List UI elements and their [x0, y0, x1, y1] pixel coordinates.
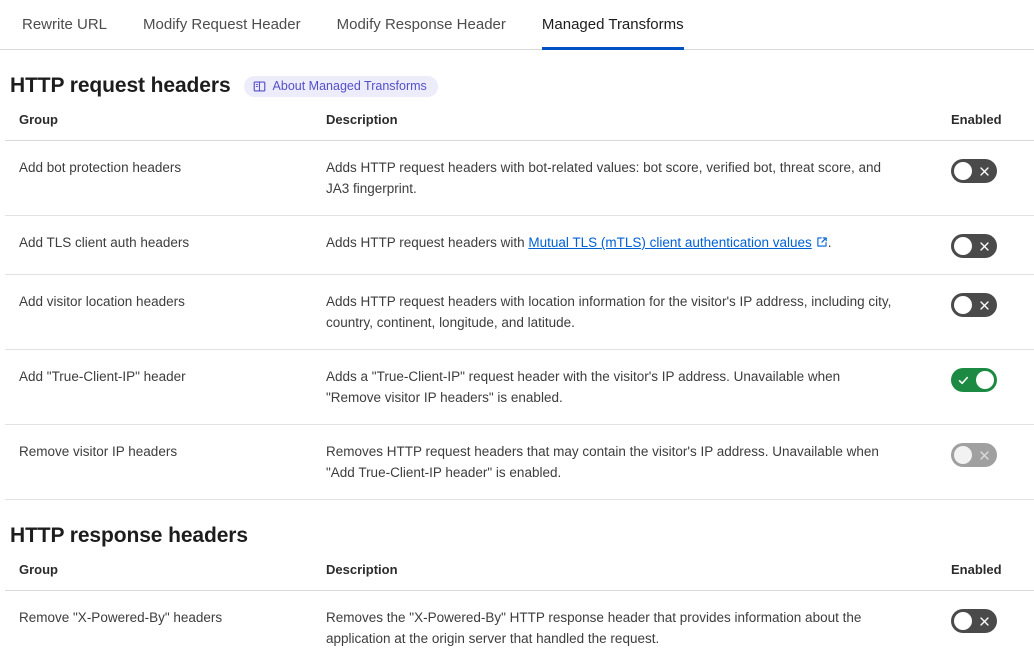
toggle-remove-x-powered-by-headers[interactable]: [951, 609, 997, 633]
toggle-knob: [954, 296, 972, 314]
about-pill-label: About Managed Transforms: [273, 80, 427, 93]
column-header-description: Description: [323, 559, 923, 591]
row-enabled-cell: [923, 141, 1034, 216]
page-title: HTTP request headers: [10, 74, 231, 98]
close-icon: [972, 443, 997, 467]
request-headers-table: Group Description Enabled Add bot protec…: [5, 109, 1034, 500]
http-request-headers-section: HTTP request headers About Managed Trans…: [5, 50, 1029, 500]
column-header-enabled: Enabled: [923, 559, 1034, 591]
close-icon: [972, 293, 997, 317]
tab-rewrite-url[interactable]: Rewrite URL: [22, 0, 107, 50]
row-group-label: Add visitor location headers: [5, 275, 323, 350]
column-header-enabled: Enabled: [923, 109, 1034, 141]
close-icon: [972, 609, 997, 633]
row-description: Removes the "X-Powered-By" HTTP response…: [323, 591, 923, 653]
toggle-knob: [954, 446, 972, 464]
column-header-description: Description: [323, 109, 923, 141]
toggle-add-tls-client-auth-headers[interactable]: [951, 234, 997, 258]
tab-managed-transforms[interactable]: Managed Transforms: [542, 0, 684, 50]
table-header-row: Group Description Enabled: [5, 559, 1034, 591]
table-row: Add bot protection headers Adds HTTP req…: [5, 141, 1034, 216]
column-header-group: Group: [5, 559, 323, 591]
description-prefix: Adds HTTP request headers with: [326, 235, 528, 250]
toggle-add-visitor-location-headers[interactable]: [951, 293, 997, 317]
row-group-label: Add bot protection headers: [5, 141, 323, 216]
table-row: Add "True-Client-IP" header Adds a "True…: [5, 350, 1034, 425]
table-row: Remove visitor IP headers Removes HTTP r…: [5, 425, 1034, 500]
row-group-label: Remove visitor IP headers: [5, 425, 323, 500]
http-response-headers-section: HTTP response headers Group Description …: [5, 500, 1029, 653]
row-enabled-cell: [923, 425, 1034, 500]
row-description: Removes HTTP request headers that may co…: [323, 425, 923, 500]
row-enabled-cell: [923, 591, 1034, 653]
about-managed-transforms-button[interactable]: About Managed Transforms: [244, 76, 438, 97]
page-content: HTTP request headers About Managed Trans…: [0, 50, 1034, 653]
column-header-group: Group: [5, 109, 323, 141]
toggle-knob: [976, 371, 994, 389]
toggle-remove-visitor-ip-headers: [951, 443, 997, 467]
table-row: Add TLS client auth headers Adds HTTP re…: [5, 216, 1034, 275]
toggle-add-true-client-ip-header[interactable]: [951, 368, 997, 392]
description-suffix: .: [828, 235, 832, 250]
close-icon: [972, 234, 997, 258]
row-description: Adds HTTP request headers with location …: [323, 275, 923, 350]
response-section-header: HTTP response headers: [5, 500, 1029, 559]
mtls-documentation-link[interactable]: Mutual TLS (mTLS) client authentication …: [528, 235, 811, 250]
row-description: Adds HTTP request headers with Mutual TL…: [323, 216, 923, 275]
request-section-header: HTTP request headers About Managed Trans…: [5, 50, 1029, 109]
toggle-knob: [954, 162, 972, 180]
close-icon: [972, 159, 997, 183]
toggle-knob: [954, 612, 972, 630]
toggle-knob: [954, 237, 972, 255]
row-enabled-cell: [923, 350, 1034, 425]
table-row: Remove "X-Powered-By" headers Removes th…: [5, 591, 1034, 653]
check-icon: [951, 368, 976, 392]
table-row: Add visitor location headers Adds HTTP r…: [5, 275, 1034, 350]
row-group-label: Add "True-Client-IP" header: [5, 350, 323, 425]
response-headers-table: Group Description Enabled Remove "X-Powe…: [5, 559, 1034, 653]
response-section-title: HTTP response headers: [10, 524, 248, 548]
book-icon: [253, 80, 266, 93]
row-enabled-cell: [923, 216, 1034, 275]
toggle-add-bot-protection-headers[interactable]: [951, 159, 997, 183]
row-enabled-cell: [923, 275, 1034, 350]
table-header-row: Group Description Enabled: [5, 109, 1034, 141]
row-group-label: Add TLS client auth headers: [5, 216, 323, 275]
row-description: Adds HTTP request headers with bot-relat…: [323, 141, 923, 216]
tab-modify-response-header[interactable]: Modify Response Header: [337, 0, 506, 50]
row-group-label: Remove "X-Powered-By" headers: [5, 591, 323, 653]
row-description: Adds a "True-Client-IP" request header w…: [323, 350, 923, 425]
tab-modify-request-header[interactable]: Modify Request Header: [143, 0, 301, 50]
external-link-icon[interactable]: [816, 234, 828, 255]
tab-bar: Rewrite URL Modify Request Header Modify…: [0, 0, 1034, 50]
